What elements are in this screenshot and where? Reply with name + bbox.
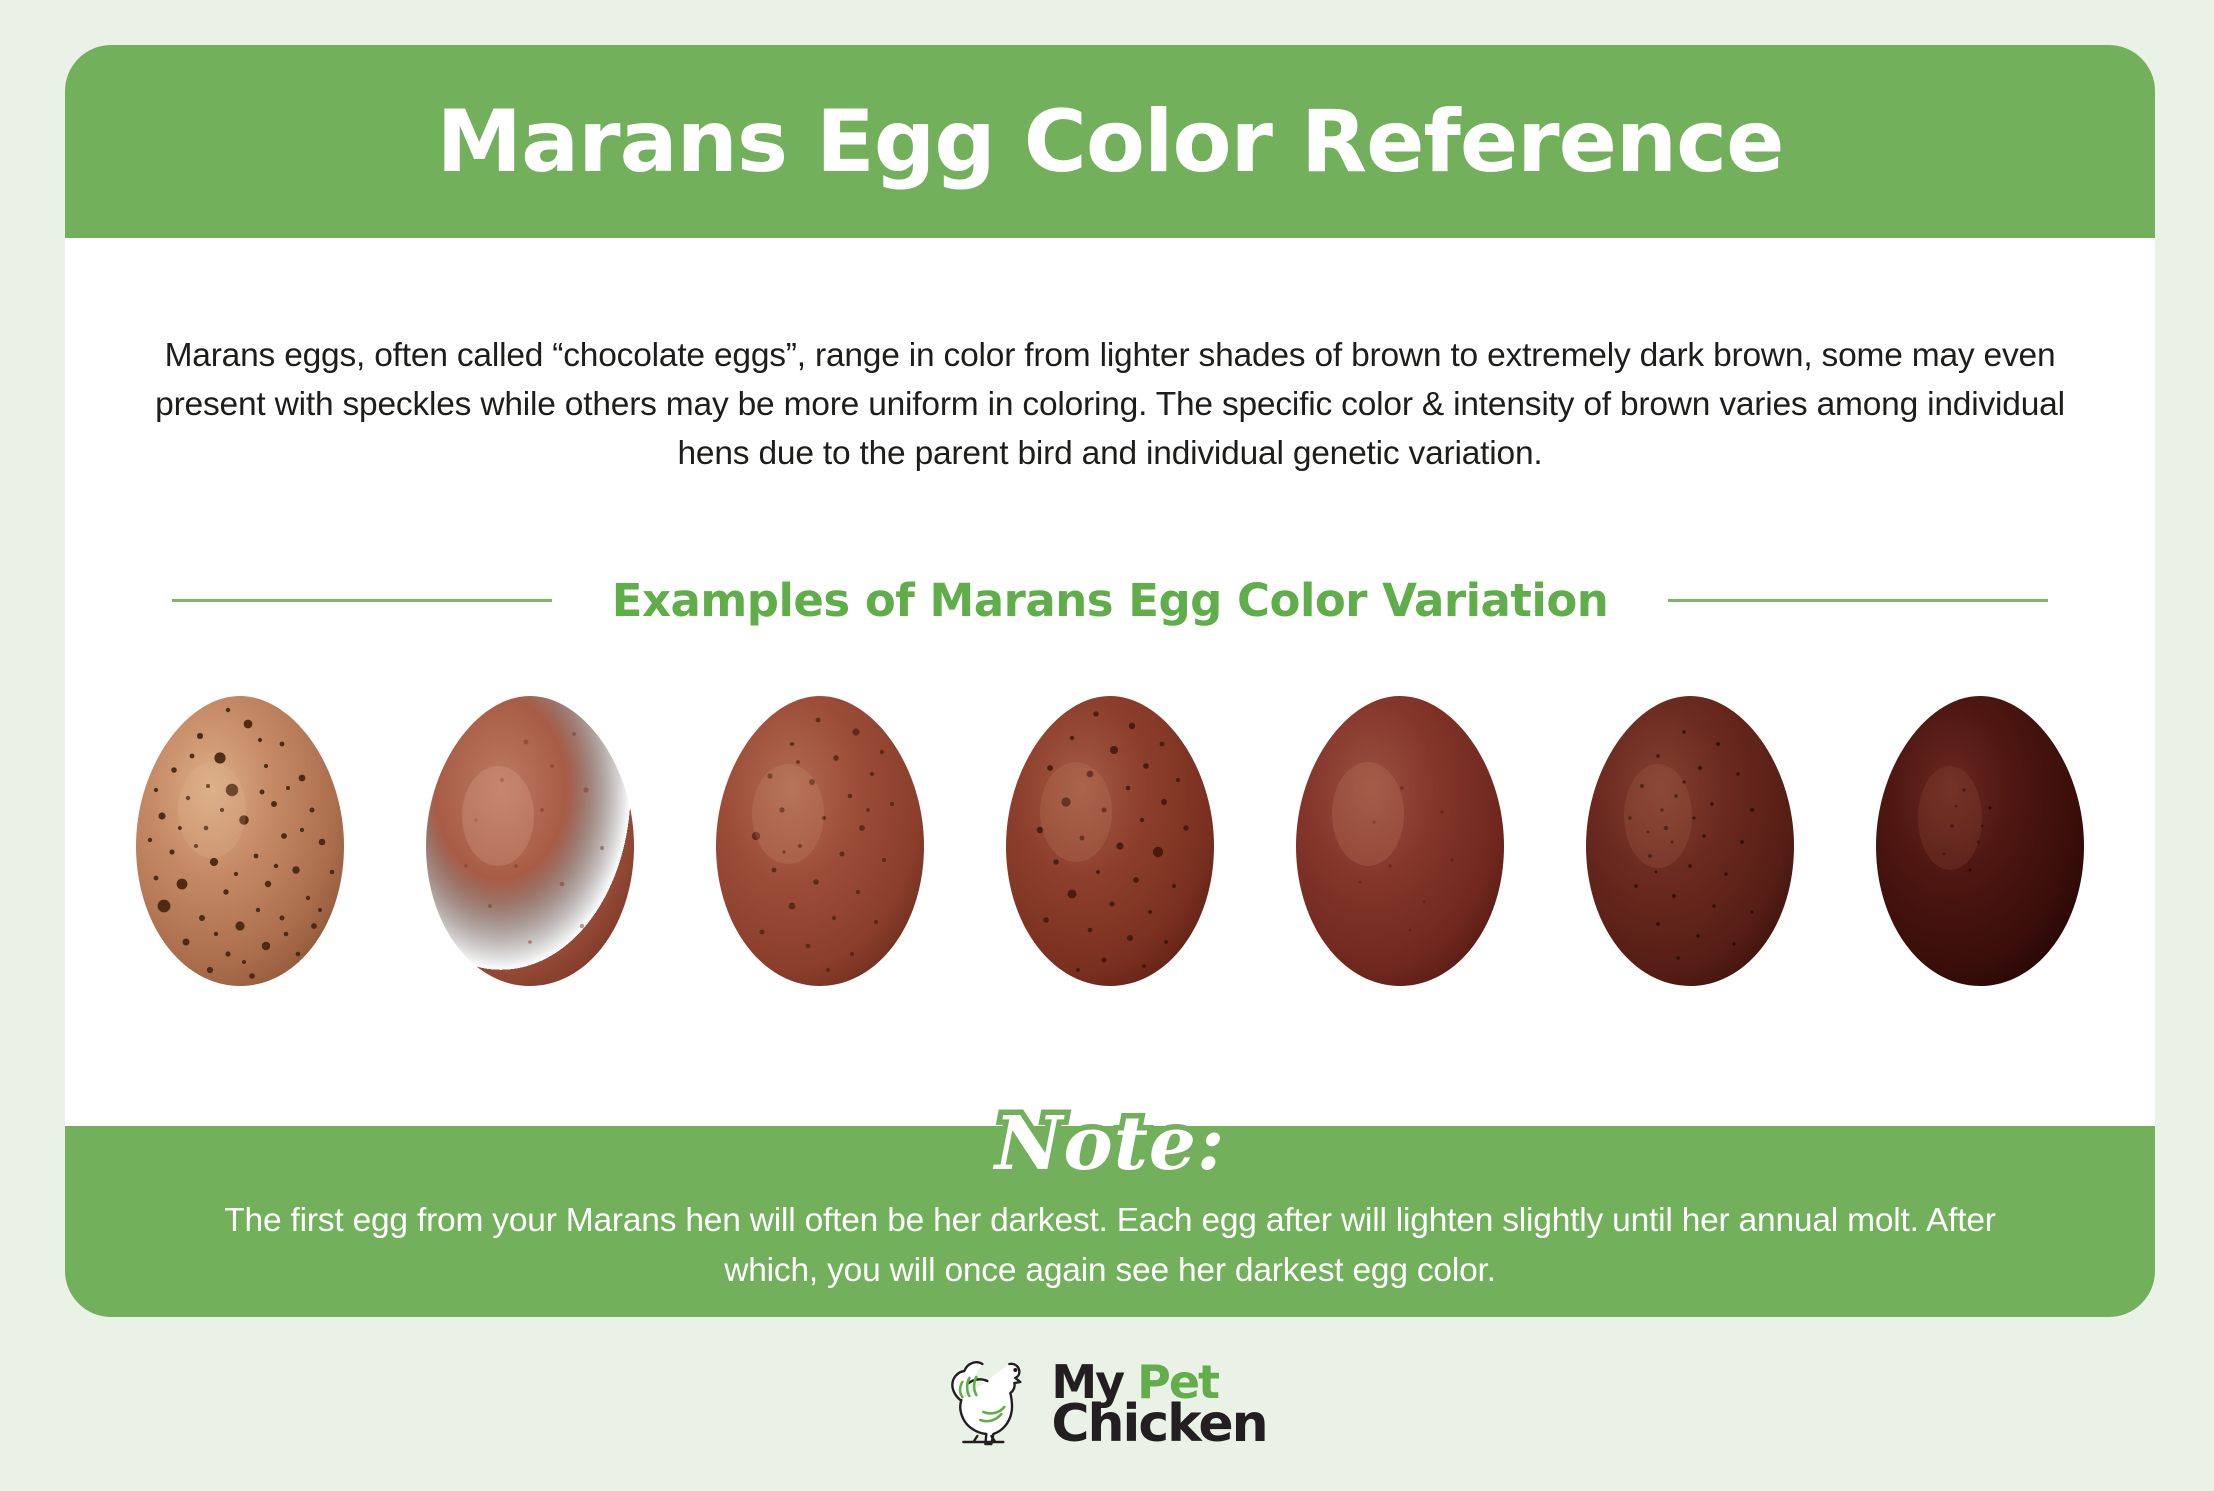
egg-swatch-4 — [986, 670, 1234, 1000]
egg-swatch-6 — [1566, 670, 1814, 1000]
page-title: Marans Egg Color Reference — [437, 99, 1784, 185]
egg-5-dark-uniform-icon — [1276, 670, 1524, 1000]
egg-6-very-dark-icon — [1566, 670, 1814, 1000]
egg-4-dark-speckled-icon — [986, 670, 1234, 1000]
infographic-card: Marans Egg Color Reference Marans eggs, … — [65, 45, 2155, 1317]
logo-wordmark: My Pet Chicken — [1051, 1363, 1266, 1447]
divider-line-left — [172, 599, 552, 602]
brand-logo: My Pet Chicken — [947, 1352, 1266, 1458]
section-heading: Examples of Marans Egg Color Variation — [65, 575, 2155, 627]
egg-1-light-speckled-icon — [116, 670, 364, 1000]
section-title: Examples of Marans Egg Color Variation — [612, 575, 1609, 627]
note-text: The first egg from your Marans hen will … — [220, 1196, 2000, 1296]
egg-swatch-7 — [1856, 670, 2104, 1000]
egg-2-medium-uniform-icon — [406, 670, 654, 1000]
egg-swatch-3 — [696, 670, 944, 1000]
logo-chicken: Chicken — [1051, 1402, 1266, 1447]
egg-swatch-1 — [116, 670, 364, 1000]
egg-color-swatch-row — [65, 655, 2155, 1015]
egg-swatch-2 — [406, 670, 654, 1000]
egg-swatch-5 — [1276, 670, 1524, 1000]
egg-7-darkest-icon — [1856, 670, 2104, 1000]
header-band: Marans Egg Color Reference — [65, 45, 2155, 238]
divider-line-right — [1668, 599, 2048, 602]
chicken-icon — [947, 1352, 1041, 1458]
note-label: Note: — [995, 1107, 1226, 1181]
egg-3-medium-speckled-icon — [696, 670, 944, 1000]
intro-paragraph: Marans eggs, often called “chocolate egg… — [150, 331, 2070, 478]
